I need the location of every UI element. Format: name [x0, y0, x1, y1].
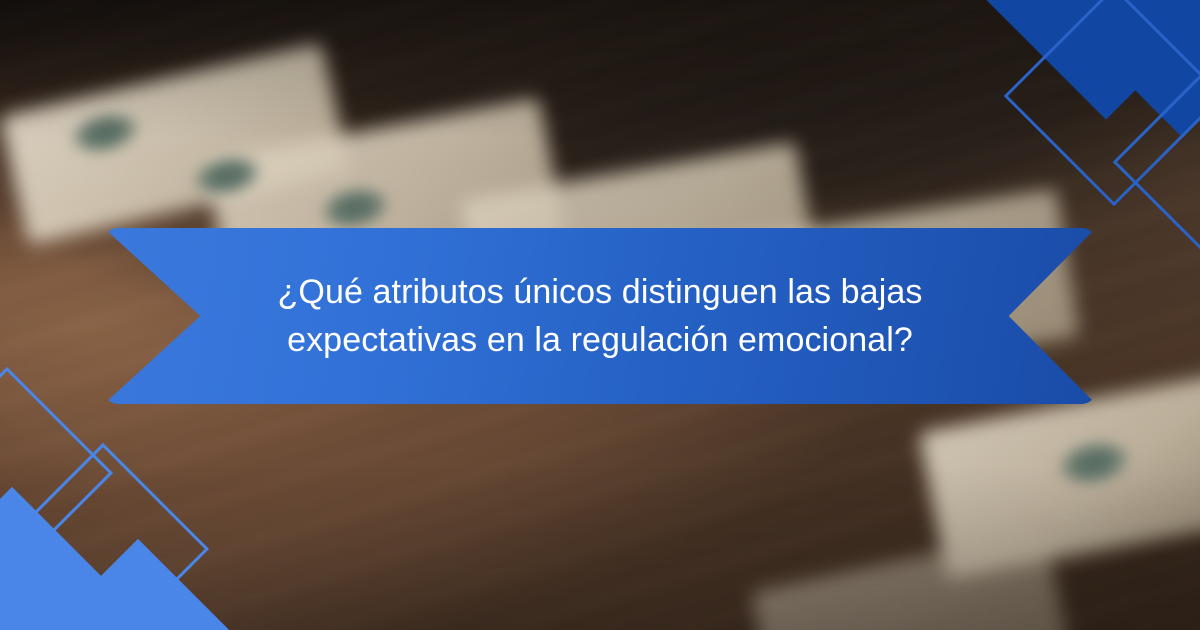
ribbon-banner: ¿Qué atributos únicos distinguen las baj…	[104, 228, 1096, 404]
share-card-canvas: ¿Qué atributos únicos distinguen las baj…	[0, 0, 1200, 630]
banner-text-wrap: ¿Qué atributos únicos distinguen las baj…	[210, 268, 990, 365]
page-title: ¿Qué atributos únicos distinguen las baj…	[210, 268, 990, 365]
